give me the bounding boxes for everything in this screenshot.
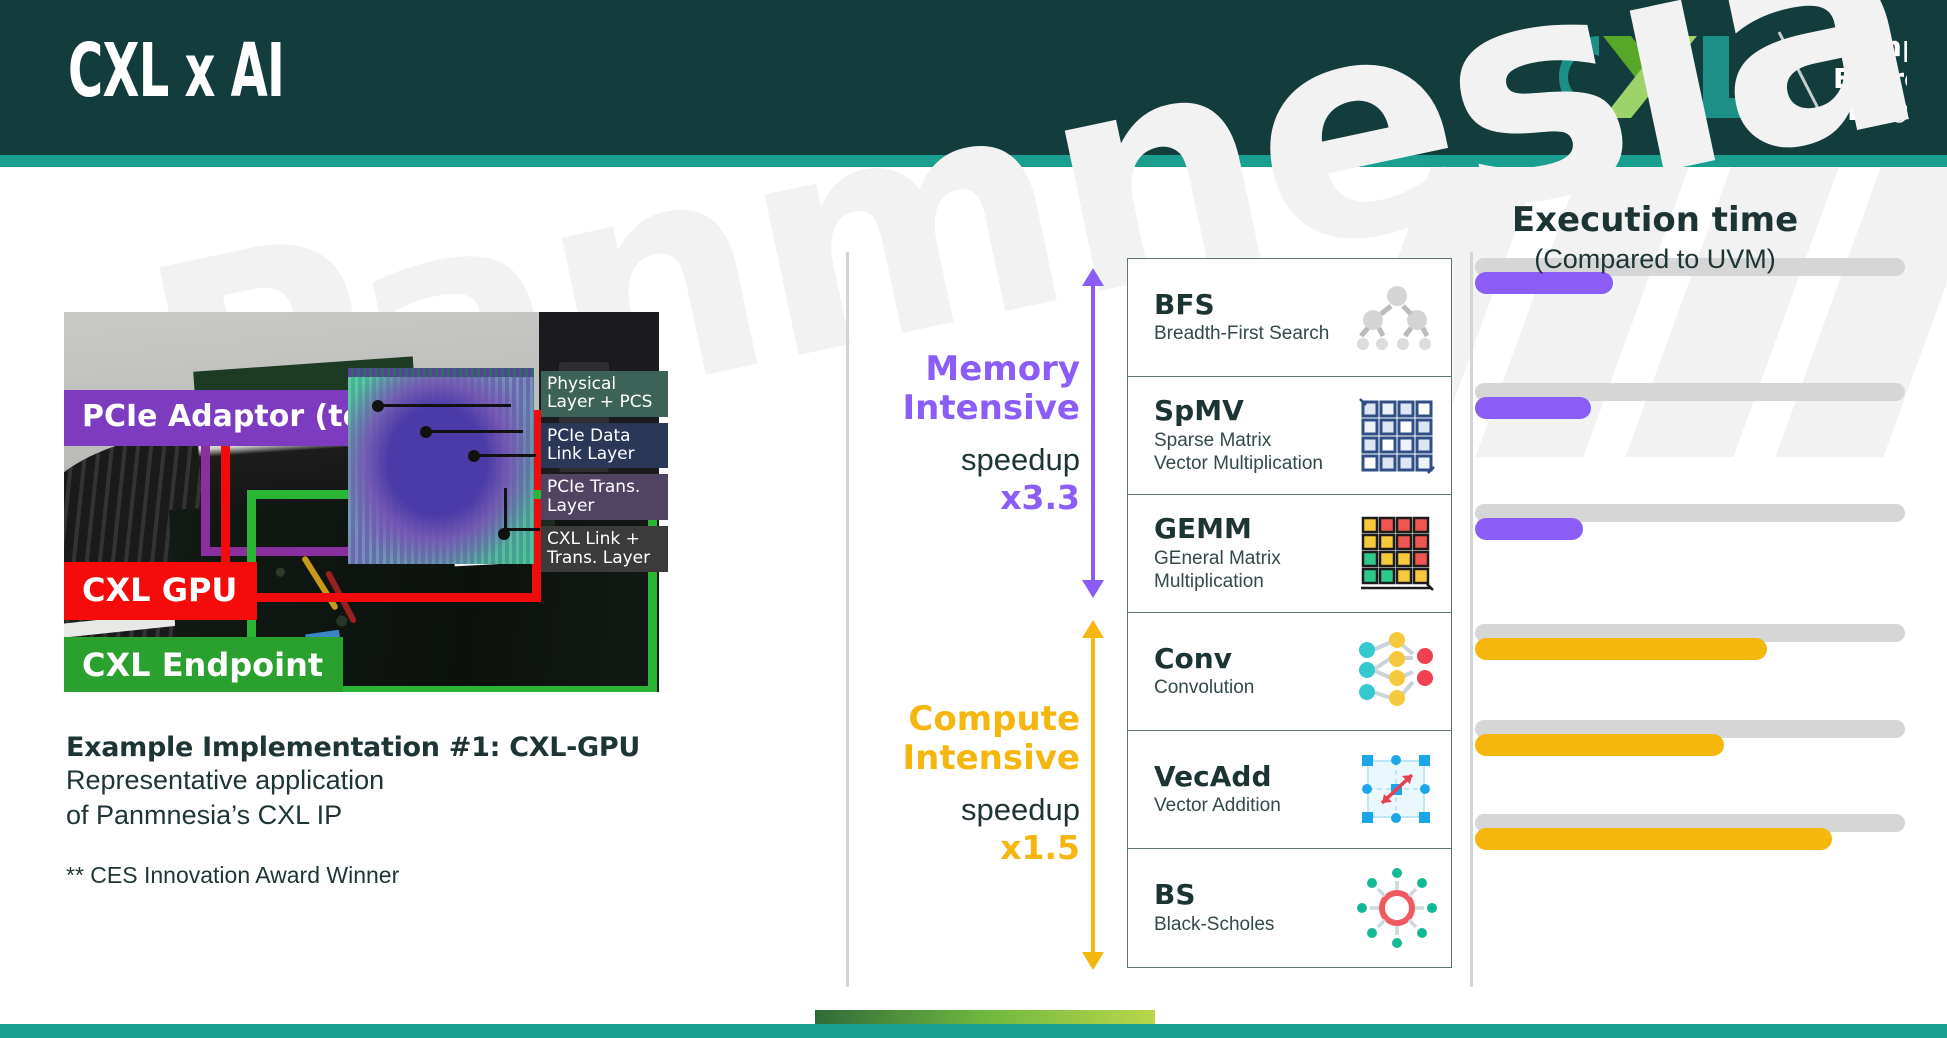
benchmark-card-list: BFS Breadth-First Search SpMV S [1127, 258, 1452, 968]
benchmark-card-spmv[interactable]: SpMV Sparse Matrix Vector Multiplication [1128, 377, 1451, 495]
benchmark-fullname: Convolution [1154, 676, 1355, 699]
chart-header: Execution time (Compared to UVM) [1455, 200, 1855, 275]
memory-intensive-arrow-icon [1080, 268, 1106, 598]
benchmark-abbr: VecAdd [1154, 762, 1355, 793]
die-leader-line [504, 488, 507, 532]
benchmark-card-conv[interactable]: Conv Convolution [1128, 613, 1451, 731]
bar-fill-gemm [1475, 518, 1583, 540]
chart-title: Execution time [1455, 200, 1855, 240]
footer-gradient-accent [815, 1010, 1155, 1024]
header-accent-rule [0, 155, 1947, 167]
svg-text:Express: Express [1833, 62, 1907, 95]
memory-speedup-value: x3.3 [860, 478, 1080, 517]
section-divider-left [846, 252, 849, 987]
benchmark-fullname: Black-Scholes [1154, 913, 1355, 936]
sparse-matrix-icon [1355, 394, 1439, 478]
bar-fill-bs [1475, 828, 1832, 850]
compute-intensive-group: Compute Intensive speedup x1.5 [860, 700, 1080, 867]
benchmark-fullname: Vector Addition [1154, 794, 1355, 817]
radial-burst-icon [1355, 866, 1439, 950]
svg-text:Compute: Compute [1833, 30, 1907, 63]
benchmark-card-bs[interactable]: BS Black-Scholes [1128, 849, 1451, 967]
tree-graph-icon [1355, 276, 1439, 360]
color-matrix-icon [1355, 512, 1439, 596]
execution-time-bar-chart [1475, 258, 1905, 968]
compute-intensive-title: Compute Intensive [860, 700, 1080, 778]
benchmark-abbr: BS [1154, 880, 1355, 911]
cxl-endpoint-tag: CXL Endpoint [64, 637, 343, 692]
caption-line-2: of Panmnesia’s CXL IP [66, 798, 706, 833]
benchmark-fullname: Breadth-First Search [1154, 322, 1355, 345]
memory-speedup-label: speedup [860, 442, 1080, 478]
benchmark-card-vecadd[interactable]: VecAdd Vector Addition [1128, 731, 1451, 849]
page-title: CXL x AI [68, 28, 284, 114]
caption-award-note: ** CES Innovation Award Winner [66, 862, 706, 889]
footer-accent-rule [0, 1024, 1947, 1038]
chart-subtitle: (Compared to UVM) [1455, 244, 1855, 275]
benchmark-fullname: Sparse Matrix Vector Multiplication [1154, 429, 1355, 475]
benchmark-abbr: SpMV [1154, 396, 1355, 427]
compute-speedup-value: x1.5 [860, 828, 1080, 867]
photo-caption: Example Implementation #1: CXL-GPU Repre… [66, 732, 706, 889]
die-label-cxl-link-trans: CXL Link + Trans. Layer [541, 526, 668, 572]
die-label-pcie-transaction: PCIe Trans. Layer [541, 474, 668, 520]
die-leader-line [504, 528, 540, 531]
vector-arrow-icon [1355, 748, 1439, 832]
memory-intensive-group: Memory Intensive speedup x3.3 [860, 350, 1080, 517]
bar-fill-bfs [1475, 272, 1613, 294]
die-leader-line [378, 404, 511, 407]
compute-intensive-arrow-icon [1080, 620, 1106, 970]
benchmark-abbr: Conv [1154, 644, 1355, 675]
neural-network-icon [1355, 630, 1439, 714]
die-leader-line [426, 430, 523, 433]
benchmark-card-bfs[interactable]: BFS Breadth-First Search [1128, 259, 1451, 377]
caption-heading: Example Implementation #1: CXL-GPU [66, 732, 706, 763]
compute-speedup-label: speedup [860, 792, 1080, 828]
die-label-stack: Physical Layer + PCS PCIe Data Link Laye… [541, 371, 668, 572]
die-callout-group: Physical Layer + PCS PCIe Data Link Laye… [348, 368, 668, 568]
slide-root: CXL x AI Compute Express Link R Panmnesi… [0, 0, 1947, 1038]
bar-fill-vecadd [1475, 734, 1724, 756]
svg-text:R: R [1895, 113, 1901, 123]
cxl-gpu-tag: CXL GPU [64, 562, 257, 620]
benchmark-fullname: GEneral Matrix Multiplication [1154, 547, 1355, 593]
bar-fill-spmv [1475, 397, 1591, 419]
die-label-physical-layer: Physical Layer + PCS [541, 371, 668, 417]
die-leader-line [474, 454, 536, 457]
benchmark-abbr: GEMM [1154, 514, 1355, 545]
benchmark-abbr: BFS [1154, 290, 1355, 321]
cxl-logo-svg: Compute Express Link R [1507, 18, 1907, 136]
cxl-logo: Compute Express Link R [1507, 18, 1907, 136]
die-label-pcie-datalink: PCIe Data Link Layer [541, 423, 668, 469]
benchmark-card-gemm[interactable]: GEMM GEneral Matrix Multiplication [1128, 495, 1451, 613]
bar-fill-conv [1475, 638, 1767, 660]
caption-line-1: Representative application [66, 763, 706, 798]
section-divider-right [1470, 252, 1473, 987]
memory-intensive-title: Memory Intensive [860, 350, 1080, 428]
